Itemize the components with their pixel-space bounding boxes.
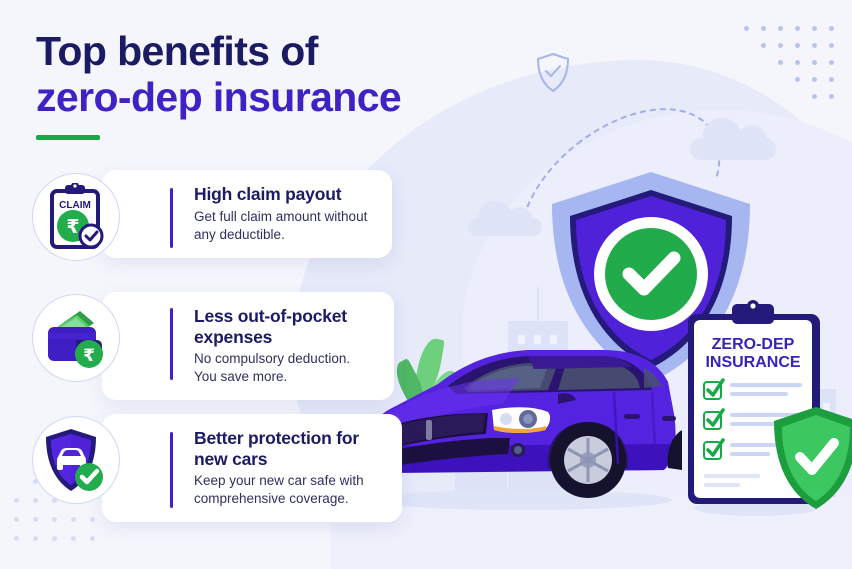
benefit-icon-medallion-1: CLAIM ₹ — [32, 173, 120, 261]
benefit-title: Better protection for new cars — [194, 428, 384, 469]
card-accent-bar — [170, 308, 173, 380]
card-accent-bar — [170, 188, 173, 248]
green-shield-check-graphic — [770, 405, 852, 513]
card-text-group: Less out-of-pocket expenses No compulsor… — [180, 306, 376, 386]
svg-text:₹: ₹ — [83, 346, 95, 366]
benefit-icon-medallion-2: ₹ — [32, 294, 120, 382]
page-title-group: Top benefits of zero-dep insurance — [36, 28, 401, 140]
dot-grid-top-right — [744, 26, 834, 99]
claim-label: CLAIM — [59, 200, 91, 211]
benefit-icon-medallion-3 — [32, 416, 120, 504]
cloud-icon — [690, 138, 776, 160]
card-text-group: Better protection for new cars Keep your… — [180, 428, 384, 508]
clipboard-title-line2: INSURANCE — [705, 354, 800, 371]
benefit-card-less-out-of-pocket[interactable]: Less out-of-pocket expenses No compulsor… — [102, 292, 394, 400]
benefit-title: Less out-of-pocket expenses — [194, 306, 376, 347]
benefit-card-high-claim-payout[interactable]: High claim payout Get full claim amount … — [102, 170, 392, 258]
claim-clipboard-rupee-icon: CLAIM ₹ — [45, 183, 107, 251]
title-line-1: Top benefits of — [36, 28, 401, 74]
card-accent-bar — [170, 432, 173, 508]
title-underline-rule — [36, 135, 100, 140]
page-title: Top benefits of zero-dep insurance — [36, 28, 401, 121]
infographic-canvas: ZERO-DEP INSURANCE — [0, 0, 852, 569]
antenna-shape — [537, 287, 539, 321]
shield-car-check-icon — [44, 427, 108, 493]
benefit-description: No compulsory deduction. You save more. — [194, 350, 376, 386]
benefit-title: High claim payout — [194, 184, 374, 205]
benefit-description: Keep your new car safe with comprehensiv… — [194, 472, 384, 508]
cloud-icon — [468, 218, 542, 236]
clipboard-title-line1: ZERO-DEP — [712, 336, 795, 353]
title-line-2: zero-dep insurance — [36, 74, 401, 120]
shield-check-outline-icon — [535, 52, 571, 94]
wallet-cash-rupee-icon: ₹ — [44, 307, 108, 369]
benefit-description: Get full claim amount without any deduct… — [194, 208, 374, 244]
card-text-group: High claim payout Get full claim amount … — [180, 184, 374, 244]
benefit-card-better-protection[interactable]: Better protection for new cars Keep your… — [102, 414, 402, 522]
svg-text:₹: ₹ — [66, 216, 79, 238]
